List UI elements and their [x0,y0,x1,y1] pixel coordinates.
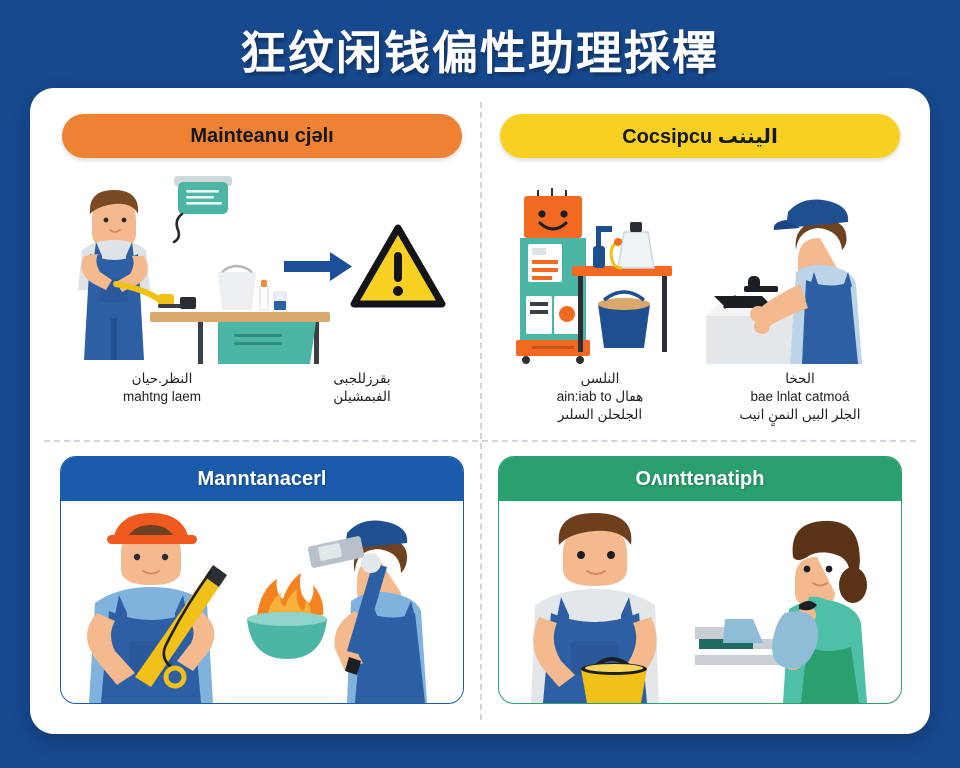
panel-inspection-captions: النلسں ain:iab to ھٯال الجلحلن السلںر ال… [500,370,900,432]
caption-latin: ain:iab to ھٯال [504,388,696,406]
panel-maintenance-illustration [62,168,462,364]
hardhat-worker [87,513,227,703]
panel-cleaning[interactable]: Oʌınttenatiph [482,452,918,720]
caption-arabic: النلسں [504,370,696,388]
caption-latin: bae lnlat catmoá [704,388,896,406]
caption-latin: mahtng laem [66,388,258,406]
caption-arabic: النظر.حيان [66,370,258,388]
caption-arabic: بقرزللجبى [266,370,458,388]
caption-latin: الفبمشيلن [266,388,458,406]
panel-cleaning-box[interactable]: Oʌınttenatiph [498,456,902,704]
caption-arabic: الحخا [704,370,896,388]
panel-maintenance[interactable]: Mainteanu cjǝlı [44,102,480,440]
horizontal-divider [44,440,916,442]
panel-repair-illustration [61,501,463,703]
panel-maintenance-header[interactable]: Mainteanu cjǝlı [62,114,462,158]
caption-item: النلسں ain:iab to ھٯال الجلحلن السلںر [500,370,700,432]
man-with-basket [531,513,659,703]
panel-cleaning-illustration [499,501,901,703]
panel-repair-header[interactable]: Manntanacerl [61,457,463,501]
caption-arabic-2: الجلر البيں النمنٍ انيٮ [704,406,896,424]
note-board-icon [174,176,232,242]
panel-inspection-title: Cocsipcu اليننٮ [622,124,778,149]
right-arrow-icon [284,252,352,281]
worker-measuring [78,190,174,360]
fire-bowl [247,573,327,659]
hammer-worker [307,521,427,703]
panel-repair-title: Manntanacerl [198,468,327,491]
content-card: Mainteanu cjǝlı [30,88,930,734]
panel-repair-box[interactable]: Manntanacerl [60,456,464,704]
panel-inspection-header[interactable]: Cocsipcu اليننٮ [500,114,900,158]
caption-arabic-2: الجلحلن السلںر [504,406,696,424]
panel-maintenance-title: Mainteanu cjǝlı [190,125,333,148]
page-title: 狂纹闲钱偏性助理採檡 [240,17,720,83]
panel-inspection-illustration [500,168,900,364]
warning-triangle-icon [354,228,442,304]
caption-item: النظر.حيان mahtng laem [62,370,262,432]
supply-table [572,222,672,352]
caption-item: بقرزللجبى الفبمشيلن [262,370,462,432]
cleaning-surface [695,619,785,665]
poster-root: 狂纹闲钱偏性助理採檡 Mainteanu cjǝlı [0,0,960,768]
panel-cleaning-title: Oʌınttenatiph [636,468,765,491]
panel-cleaning-header[interactable]: Oʌınttenatiph [499,457,901,501]
panel-inspection[interactable]: Cocsipcu اليننٮ [482,102,918,440]
caption-item: الحخا bae lnlat catmoá الجلر البيں النمن… [700,370,900,432]
workbench [150,266,330,364]
worker-at-bin [706,200,862,364]
panel-maintenance-captions: النظر.حيان mahtng laem بقرزللجبى الفبمشي… [62,370,462,432]
poster-title-bar: 狂纹闲钱偏性助理採檡 [0,14,960,86]
panel-repair[interactable]: Manntanacerl [44,452,480,720]
woman-with-cloth [772,521,867,703]
